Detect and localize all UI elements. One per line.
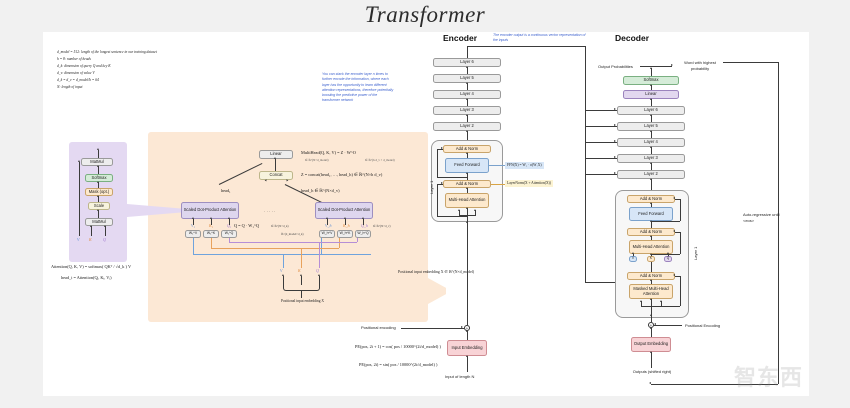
multihead-formula: MultiHead(Q, K, V) = Z · W^O	[301, 150, 356, 155]
stack-encoder-note: You can stack the encoder layer n times …	[322, 72, 394, 104]
outputs-shifted-right-label: Outputs (shifted right)	[631, 369, 673, 375]
mha-linear-box[interactable]: Linear	[259, 150, 293, 159]
weight-matrix-w1q[interactable]: W₁^Q	[221, 230, 237, 238]
multihead-dims-z: ∈ ℝ^(N×d_model)	[305, 158, 329, 162]
pe-even-formula: PE(pos, 2i + 1) = cos( pos / 10000^(2i/d…	[355, 344, 441, 349]
dim-note-left: ∈ ℝ^(N×d_k)	[271, 224, 289, 228]
auto-regressive-label: Auto-regressive until <eos>	[743, 212, 783, 224]
decoder-feed-forward[interactable]: Feed Forward	[629, 207, 673, 221]
qkv-label-vh: V_h	[325, 223, 331, 228]
encoder-output-note: The encoder output is a continuous vecto…	[493, 33, 587, 44]
notation-line: d_model = 512: length of the longest sen…	[57, 50, 157, 55]
bus-label-q: Q	[316, 268, 319, 273]
encoder-layer-1-label: Layer 1	[429, 181, 434, 194]
z-concat-formula: Z = concat(head₁, …, head_h) ∈ ℝ^(N×h d_…	[301, 172, 382, 178]
head-first-label: head₁	[221, 188, 231, 193]
weight-dim-note: ℝ^(d_model×d_k)	[281, 232, 303, 236]
head-last-label: head_h ∈ ℝ^(N×d_v)	[301, 188, 340, 194]
qkv-label-kh: K_h	[343, 223, 350, 228]
positional-encoding-label-left: Positional encoding	[361, 325, 396, 331]
bus-label-v: V	[280, 268, 282, 273]
encoder-section-title: Encoder	[443, 33, 477, 43]
sdpa-ellipsis: · · · · ·	[264, 209, 275, 214]
pe-odd-formula: PE(pos, 2i) = sin( pos / 10000^(2i/d_mod…	[359, 362, 437, 367]
multihead-dims-w: ∈ ℝ^(h d_v × d_model)	[365, 158, 395, 162]
decoder-qkv-v[interactable]: V	[629, 256, 637, 262]
encoder-positional-input-label: Positional input embedding X ∈ ℝ^(N×d_mo…	[398, 270, 474, 276]
positional-input-embedding-label: Positional input embedding X	[280, 299, 325, 304]
notation-line: d_v: dimension of value V	[57, 71, 95, 76]
sdpa-qkv-q: Q	[103, 237, 106, 242]
word-highest-probability-label: Word with highest probability	[677, 60, 723, 72]
watermark: 智东西	[734, 360, 803, 392]
input-embedding-box[interactable]: Input Embedding	[447, 340, 487, 356]
head-formula: head_i = Attention(Qᵢ, Kᵢ, Vᵢ)	[61, 275, 112, 280]
page-title: Transformer	[0, 2, 850, 28]
notation-line: N: length of input	[57, 85, 82, 90]
decoder-qkv-q[interactable]: Q	[664, 256, 672, 262]
decoder-layer-1-label: Layer 1	[693, 247, 698, 260]
encoder-multi-head-attention[interactable]: Multi-Head Attention	[445, 193, 489, 208]
decoder-qkv-k[interactable]: K	[647, 256, 655, 262]
sdpa-mask[interactable]: Mask (opt.)	[85, 188, 113, 196]
decoder-output-embedding[interactable]: Output Embedding	[631, 337, 671, 352]
decoder-masked-multi-head-attention[interactable]: Masked Multi-Head Attention	[629, 284, 673, 299]
decoder-section-title: Decoder	[615, 33, 649, 43]
weight-matrix-w1v[interactable]: W₁^V	[185, 230, 201, 238]
encoder-feed-forward[interactable]: Feed Forward	[445, 158, 489, 173]
q-projection-note: Q = Q · W₁^Q	[234, 223, 259, 228]
layernorm-formula-callout: LayerNorm(X + Attention(X))	[505, 180, 553, 187]
weight-matrix-w1k[interactable]: W₁^K	[203, 230, 219, 238]
attention-formula: Attention(Q, K, V) = softmax( QKᵀ / √d_k…	[51, 264, 131, 269]
sdpa-qkv-v: V	[77, 237, 79, 242]
decoder-positional-encoding-label: Positional Encoding	[685, 323, 720, 329]
weight-matrix-whv[interactable]: W_h^V	[319, 230, 335, 238]
sdpa-scale[interactable]: Scale	[88, 202, 110, 210]
sdpa-qkv-k: K	[89, 237, 92, 242]
notation-line: d_k = d_v = d_model/h = 64	[57, 78, 99, 83]
ffn-formula-callout: FFN(X) = W₂ · σ(W₁X)	[505, 162, 544, 169]
notation-line: h = 8: number of heads	[57, 57, 91, 62]
diagram-canvas: Encoder Decoder d_model = 512: length of…	[43, 32, 809, 396]
weight-matrix-whk[interactable]: W_h^K	[337, 230, 353, 238]
bus-label-k: K	[298, 268, 301, 273]
notation-line: d_k: dimension of query Q and key K	[57, 64, 111, 69]
sdpa-softmax[interactable]: Softmax	[85, 174, 113, 182]
output-probabilities-label: Output Probabilities	[598, 64, 633, 70]
weight-matrix-whq[interactable]: W_h^Q	[355, 230, 371, 238]
input-length-label: Input of length N	[445, 374, 474, 380]
dim-note-right: ∈ ℝ^(N×d_v)	[373, 224, 391, 228]
